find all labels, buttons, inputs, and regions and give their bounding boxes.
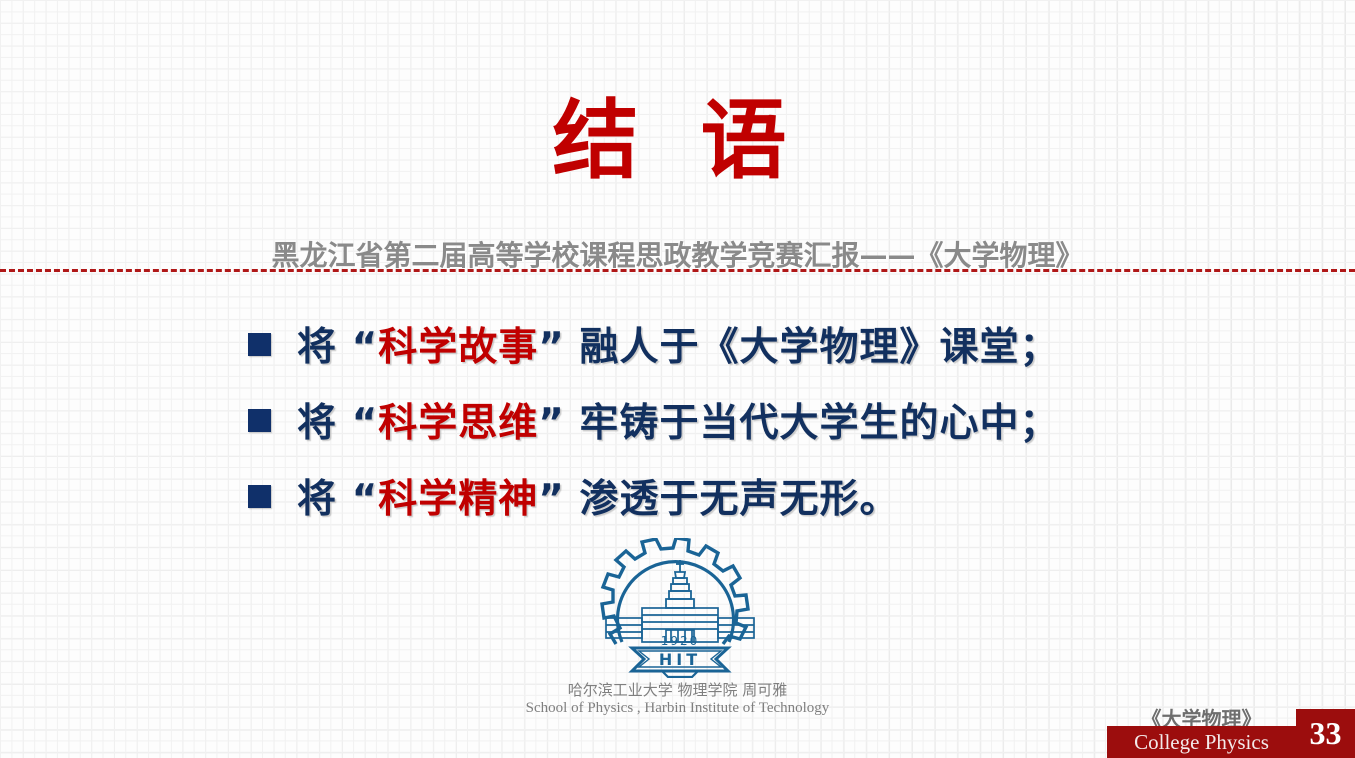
caption-chinese: 哈尔滨工业大学 物理学院 周可雅: [0, 681, 1355, 699]
bullet-highlight: 科学故事: [378, 325, 538, 370]
bullet-prefix: 将 “: [297, 325, 378, 370]
footer-bar: College Physics: [1107, 726, 1296, 758]
footer-course-english: College Physics: [1107, 726, 1296, 758]
list-item: 将 “科学思维” 牢铸于当代大学生的心中；: [248, 382, 1248, 458]
bullet-highlight: 科学思维: [378, 401, 538, 446]
dashed-divider: [0, 269, 1355, 272]
svg-text:HIT: HIT: [659, 650, 701, 669]
bullet-suffix: ” 融人于《大学物理》课堂；: [538, 325, 1059, 370]
slide-title: 结 语: [0, 96, 1355, 186]
hit-university-logo-icon: 1920 HIT: [592, 538, 768, 678]
page-number: 33: [1296, 709, 1355, 758]
bullet-suffix: ” 渗透于无声无形。: [538, 477, 899, 522]
bullet-list: 将 “科学故事” 融人于《大学物理》课堂； 将 “科学思维” 牢铸于当代大学生的…: [248, 306, 1248, 534]
bullet-prefix: 将 “: [297, 401, 378, 446]
square-bullet-icon: [248, 409, 271, 432]
bullet-text: 将 “科学故事” 融人于《大学物理》课堂；: [297, 316, 1059, 372]
svg-text:1920: 1920: [661, 634, 700, 648]
bullet-suffix: ” 牢铸于当代大学生的心中；: [538, 401, 1059, 446]
bullet-prefix: 将 “: [297, 477, 378, 522]
bullet-highlight: 科学精神: [378, 477, 538, 522]
square-bullet-icon: [248, 333, 271, 356]
bullet-text: 将 “科学精神” 渗透于无声无形。: [297, 468, 899, 524]
bullet-text: 将 “科学思维” 牢铸于当代大学生的心中；: [297, 392, 1059, 448]
list-item: 将 “科学精神” 渗透于无声无形。: [248, 458, 1248, 534]
page-number-box: 33: [1296, 709, 1355, 758]
slide-canvas: 结 语 黑龙江省第二届高等学校课程思政教学竞赛汇报——《大学物理》 将 “科学故…: [0, 0, 1355, 758]
list-item: 将 “科学故事” 融人于《大学物理》课堂；: [248, 306, 1248, 382]
slide-subtitle: 黑龙江省第二届高等学校课程思政教学竞赛汇报——《大学物理》: [0, 234, 1355, 274]
square-bullet-icon: [248, 485, 271, 508]
